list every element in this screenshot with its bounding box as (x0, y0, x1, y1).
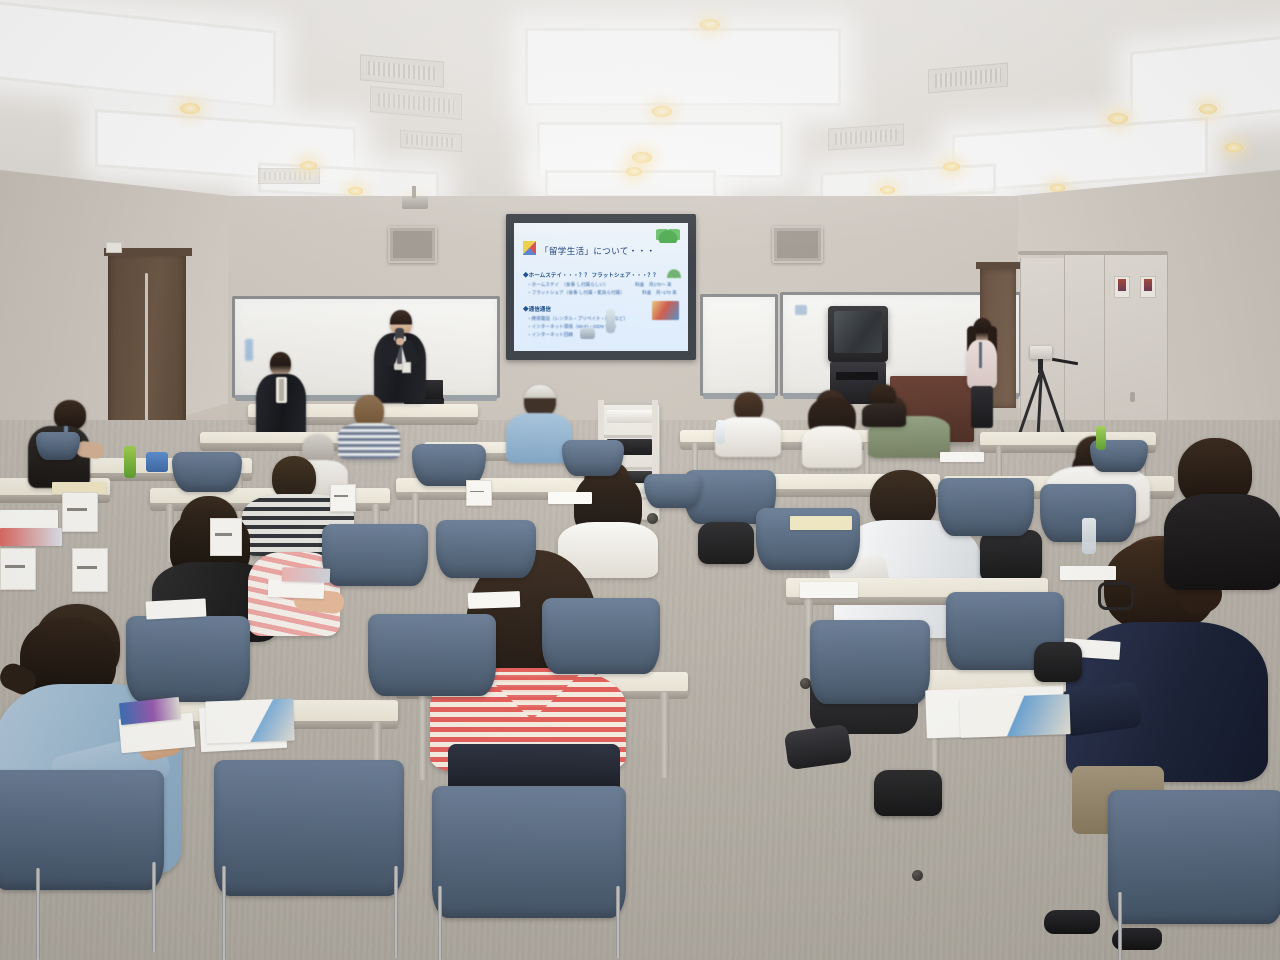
wall-speaker-left (388, 226, 437, 263)
paper-handouts[interactable] (800, 582, 858, 598)
whiteboard-marking (245, 339, 253, 361)
chair[interactable] (368, 614, 496, 696)
chair-frame (152, 862, 156, 952)
staff-head (270, 352, 291, 376)
attendee-shoe (1044, 910, 1100, 934)
chair[interactable] (542, 598, 660, 674)
projection-screen: 「留学生活」について・・・ ◆ホームステイ・・・？？ フラットシェア・・・？？ … (506, 214, 696, 360)
door-handle-icon (145, 273, 148, 433)
chair[interactable] (1108, 790, 1280, 924)
door-frame-right (976, 262, 1020, 269)
chair-frame (438, 886, 442, 960)
slide-bullet-1-line-2: ・フラットシェア（食事 し付属・家具ら付属） 料金 月~170 末 (527, 290, 677, 296)
slide-bullet-1: ◆ホームステイ・・・？？ フラットシェア・・・？？ (523, 271, 659, 279)
water-bottle[interactable] (1096, 426, 1106, 450)
ceiling-air-vent (370, 86, 462, 120)
paper-handouts[interactable] (1060, 566, 1116, 580)
colour-leaflet[interactable] (282, 567, 330, 583)
seminar-room-photo: 「留学生活」について・・・ ◆ホームステイ・・・？？ フラットシェア・・・？？ … (0, 0, 1280, 960)
whiteboard-marking (795, 305, 807, 315)
ceiling-downlight (652, 106, 672, 117)
slide-bullet-1-line-1: ・ホームステイ （食事 し付属らしい） 料金 月170～ 末 (527, 282, 672, 288)
presenter-name-badge (402, 362, 411, 373)
projected-slide: 「留学生活」について・・・ ◆ホームステイ・・・？？ フラットシェア・・・？？ … (514, 223, 688, 351)
attendee-back-right-dark-hair (1164, 438, 1280, 588)
blue-pencil-case[interactable] (146, 452, 168, 472)
attendee-torso (1164, 494, 1280, 590)
chair-frame (222, 866, 226, 960)
ceiling-downlight (1050, 184, 1065, 192)
ceiling-downlight (880, 186, 895, 194)
attendee-black-top-right (862, 384, 908, 424)
water-bottle[interactable] (1082, 518, 1096, 554)
chair[interactable] (562, 440, 624, 476)
chair-backrest (1108, 790, 1280, 924)
colour-leaflet[interactable] (0, 528, 62, 546)
podium-staff-legs (971, 386, 993, 428)
chair[interactable] (172, 452, 242, 492)
chair-backrest (368, 614, 496, 696)
chair[interactable] (214, 760, 404, 896)
table-edge-sign (466, 480, 492, 506)
ceiling-downlight (348, 187, 363, 195)
ceiling-air-vent (400, 130, 462, 152)
table-caster (912, 870, 923, 881)
ceiling-downlight (1225, 143, 1243, 152)
chair-backrest (938, 478, 1034, 536)
vcr-device (836, 372, 878, 380)
chair-backrest (432, 786, 626, 918)
ceiling-downlight (700, 19, 720, 30)
slide-logo-icon (656, 228, 680, 243)
glasses-icon (1098, 582, 1134, 610)
table-edge-sign (210, 518, 242, 556)
ceiling-downlight (1108, 113, 1128, 124)
chair-backrest (172, 452, 242, 492)
bag-on-floor[interactable] (874, 770, 942, 816)
chair[interactable] (810, 620, 930, 704)
paper-handouts[interactable] (790, 516, 852, 530)
mobile-phone-image-icon (606, 309, 615, 333)
slide-title: 「留学生活」について・・・ (540, 245, 655, 257)
bag-on-floor[interactable] (698, 522, 754, 564)
slide-bullet-2: ◆通信通信 (523, 305, 551, 313)
cart-projector (607, 410, 653, 423)
chair-backrest (436, 520, 536, 578)
ceiling-downlight (180, 103, 200, 114)
wall-speaker-right (772, 226, 823, 263)
whiteboard-right (700, 294, 778, 396)
partition-panel[interactable] (1064, 255, 1106, 447)
partition-poster (1114, 276, 1130, 298)
ceiling-light-panel (525, 28, 841, 106)
chair-backrest (36, 432, 80, 460)
partition-poster (1140, 276, 1156, 298)
chair[interactable] (322, 524, 428, 586)
door-sign-left (106, 242, 122, 253)
chair[interactable] (436, 520, 536, 578)
chair-frame (616, 886, 620, 958)
green-tea-bottle[interactable] (124, 446, 136, 478)
attendee-torso (862, 403, 906, 427)
tv-screen (834, 311, 882, 353)
colour-leaflet[interactable] (959, 694, 1070, 738)
mountain-graphic-icon (666, 268, 682, 278)
partition-handle-icon (1130, 392, 1135, 402)
paper-handouts[interactable] (548, 492, 592, 504)
ceiling-downlight (626, 167, 642, 176)
paper-handouts[interactable] (146, 598, 207, 619)
table-leg (418, 692, 427, 780)
chair-backrest (214, 760, 404, 896)
chair-backrest (810, 620, 930, 704)
chair-frame (36, 868, 40, 960)
chair-frame (1118, 892, 1122, 960)
chair[interactable] (432, 786, 626, 918)
table-edge-sign (0, 548, 36, 590)
chair-backrest (126, 616, 250, 702)
slide-bullet-2-line-3: ・インターネット回線 (527, 332, 573, 338)
staff-at-podium (964, 318, 1000, 430)
table-leg (660, 692, 669, 778)
cart-shelf (604, 435, 656, 438)
ceiling-light-panel (0, 0, 276, 109)
cube-bullet-graphic-icon (523, 241, 536, 255)
chair-backrest (0, 770, 164, 890)
chair[interactable] (644, 474, 702, 508)
chair[interactable] (126, 616, 250, 702)
chair[interactable] (36, 432, 80, 460)
chair-backrest (644, 474, 702, 508)
table-edge-sign (72, 548, 108, 592)
ceiling-downlight (1199, 104, 1217, 114)
presenter-with-microphone (372, 310, 428, 402)
partition-track (1018, 251, 1168, 255)
seated-staff-in-suit (256, 352, 308, 444)
colour-leaflet[interactable] (205, 698, 294, 743)
water-bottle[interactable] (716, 420, 725, 444)
ceiling-downlight (632, 152, 652, 163)
podium-staff-torso (967, 340, 997, 388)
table-edge-sign (62, 492, 98, 532)
video-camera-on-tripod (1030, 346, 1052, 359)
table-edge-sign (330, 484, 356, 512)
chair-backrest (562, 440, 624, 476)
ceiling-downlight (300, 161, 317, 170)
chair-frame (394, 866, 398, 958)
chair-backrest (542, 598, 660, 674)
ceiling-air-vent (828, 123, 904, 150)
black-bag-on-chair (980, 530, 1042, 582)
ceiling-air-vent (258, 168, 320, 184)
hand-image-icon (580, 328, 595, 339)
staff-tie (279, 379, 284, 401)
chair[interactable] (938, 478, 1034, 536)
paper-handouts[interactable] (0, 510, 58, 530)
projector-mount (412, 186, 416, 198)
postcard-image-icon (652, 301, 679, 320)
lanyard-icon (979, 342, 982, 368)
attendee-torso (802, 426, 862, 468)
chair-backrest (322, 524, 428, 586)
ceiling-downlight (943, 162, 960, 171)
paper-handouts[interactable] (940, 452, 984, 462)
crt-television-monitor (828, 306, 888, 362)
paper-handouts[interactable] (468, 591, 521, 609)
ceiling-air-vent (360, 54, 444, 87)
presenter-hands (396, 338, 404, 345)
bag-on-floor[interactable] (1034, 642, 1082, 682)
chair[interactable] (0, 770, 164, 890)
ceiling-air-vent (928, 63, 1008, 94)
attendee-white-sleeveless (796, 390, 870, 466)
